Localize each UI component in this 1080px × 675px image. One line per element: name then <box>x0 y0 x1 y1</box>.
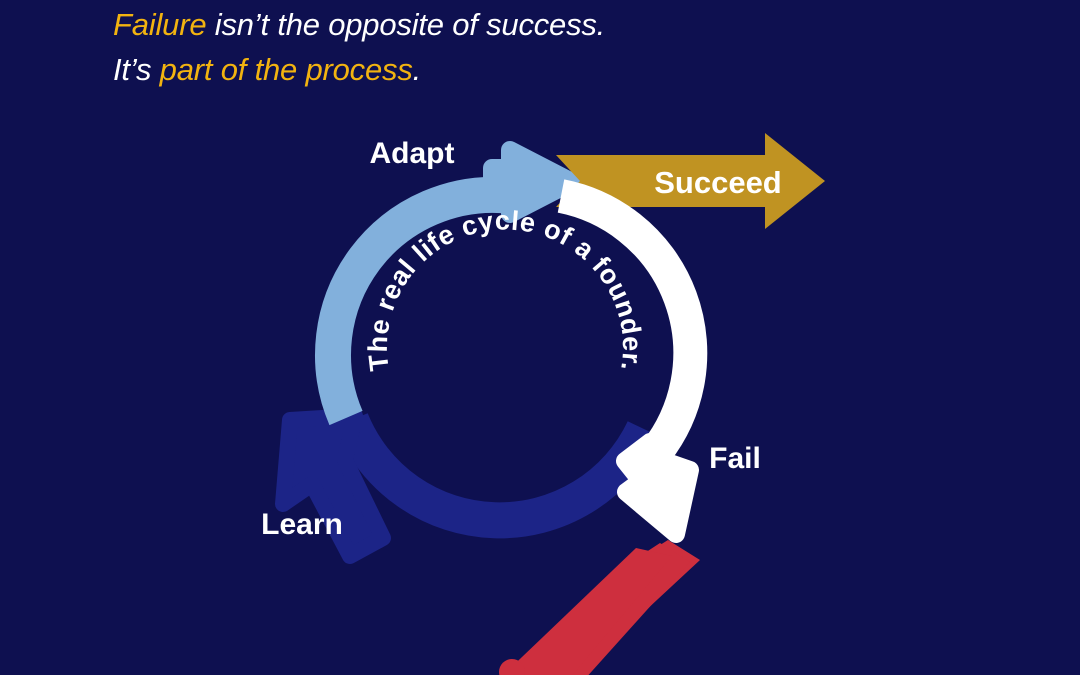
learn-label: Learn <box>261 508 343 541</box>
fail-label: Fail <box>709 442 761 475</box>
founder-cycle-diagram: Succeed The real life cycle of a founder… <box>0 0 1080 675</box>
poster-canvas: Failure isn’t the opposite of success. I… <box>0 0 1080 675</box>
succeed-label: Succeed <box>654 165 782 200</box>
adapt-label: Adapt <box>370 137 455 170</box>
drop-arrow <box>480 540 700 675</box>
adapt-arrow <box>333 150 572 418</box>
